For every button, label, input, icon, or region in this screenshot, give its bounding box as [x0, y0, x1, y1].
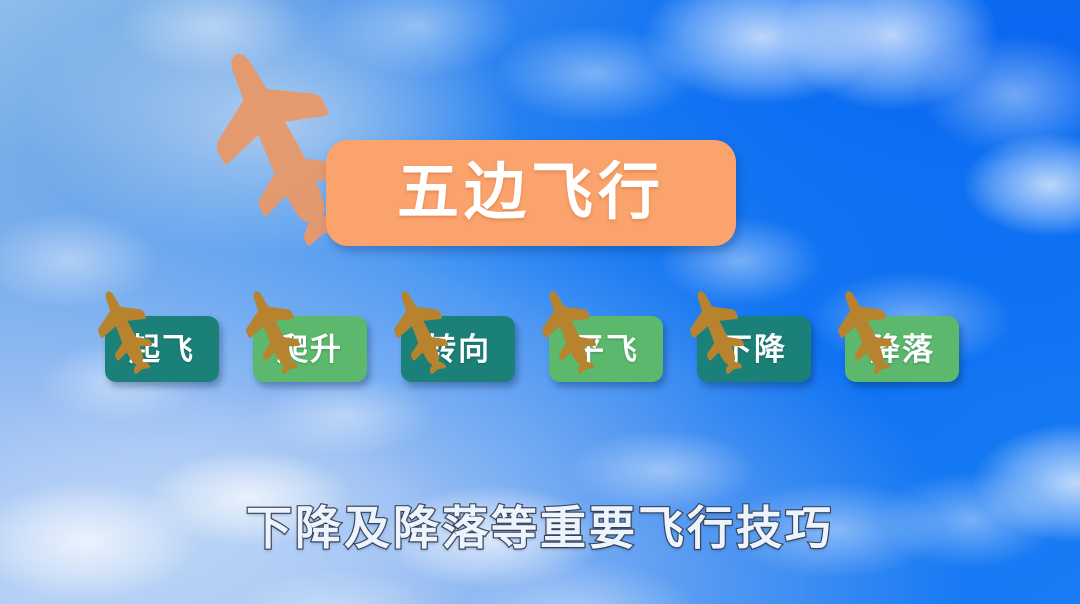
flight-stage-label: 平飞 [573, 334, 639, 365]
poster-canvas: 五边飞行 起飞爬升转向平飞下降降落 下降及降落等重要飞行技巧 [0, 0, 1080, 604]
flight-stage-label: 爬升 [277, 334, 343, 365]
flight-stage-chip[interactable]: 降落 [845, 316, 959, 382]
flight-stage-chip[interactable]: 起飞 [105, 316, 219, 382]
flight-stage-tag[interactable]: 下降 [697, 316, 811, 382]
flight-stage-chip[interactable]: 下降 [697, 316, 811, 382]
flight-stage-label: 降落 [869, 334, 935, 365]
subtitle-container: 下降及降落等重要飞行技巧 [0, 503, 1080, 554]
flight-stage-chip[interactable]: 爬升 [253, 316, 367, 382]
flight-stage-tag[interactable]: 起飞 [105, 316, 219, 382]
flight-stage-tag[interactable]: 转向 [401, 316, 515, 382]
flight-stage-label: 起飞 [129, 334, 195, 365]
flight-stage-tag[interactable]: 平飞 [549, 316, 663, 382]
flight-stage-chip[interactable]: 转向 [401, 316, 515, 382]
flight-stage-label: 转向 [425, 334, 491, 365]
subtitle-caption: 下降及降落等重要飞行技巧 [246, 503, 834, 554]
flight-stage-tag[interactable]: 爬升 [253, 316, 367, 382]
flight-stage-chip[interactable]: 平飞 [549, 316, 663, 382]
flight-stage-tag-row: 起飞爬升转向平飞下降降落 [105, 316, 960, 382]
flight-stage-label: 下降 [721, 334, 787, 365]
page-title: 五边飞行 [397, 162, 665, 224]
main-title-badge: 五边飞行 [326, 140, 736, 246]
flight-stage-tag[interactable]: 降落 [845, 316, 959, 382]
